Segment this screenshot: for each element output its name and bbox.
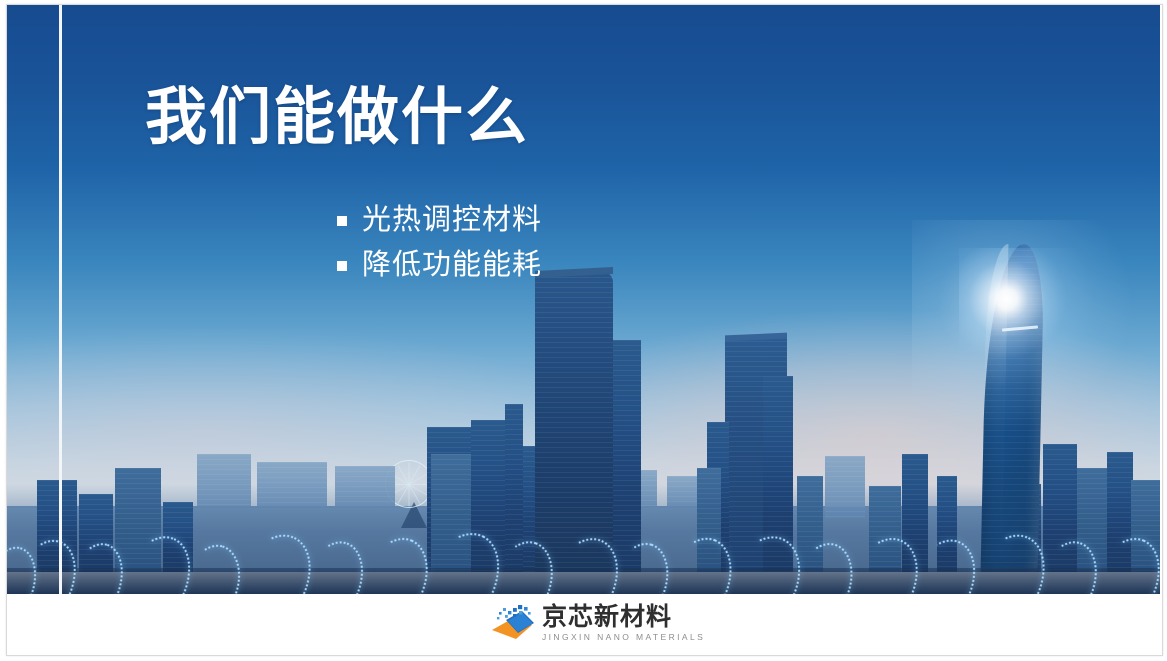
square-bullet-icon	[337, 261, 347, 271]
building	[197, 454, 251, 506]
list-item: 降低功能能耗	[337, 243, 542, 288]
building	[797, 476, 823, 572]
building	[335, 466, 395, 506]
central-tower	[535, 272, 613, 572]
building	[825, 456, 865, 518]
logo-name-cn: 京芯新材料	[542, 604, 705, 630]
logo-text-block: 京芯新材料 JINGXIN NANO MATERIALS	[542, 604, 705, 642]
square-bullet-icon	[337, 216, 347, 226]
building	[697, 468, 721, 572]
bullet-list: 光热调控材料 降低功能能耗	[337, 198, 542, 288]
sun-glow-halo	[912, 220, 1152, 450]
building	[613, 340, 641, 572]
building	[115, 468, 161, 572]
list-item: 光热调控材料	[337, 198, 542, 243]
building	[1043, 444, 1077, 572]
building	[937, 476, 957, 572]
bullet-label: 光热调控材料	[362, 198, 542, 243]
building	[505, 404, 523, 572]
slide-footer: 京芯新材料 JINGXIN NANO MATERIALS	[7, 594, 1160, 655]
slide-title: 我们能做什么	[145, 83, 529, 152]
building	[257, 462, 327, 506]
building	[763, 376, 793, 572]
left-divider-stripe	[59, 5, 62, 594]
jingxin-pixel-logo-mark-icon	[488, 603, 536, 643]
logo-name-en: JINGXIN NANO MATERIALS	[542, 632, 705, 642]
building	[1131, 480, 1160, 572]
building	[1107, 452, 1133, 572]
building	[1077, 468, 1107, 572]
building	[431, 454, 475, 572]
building	[902, 454, 928, 572]
company-logo: 京芯新材料 JINGXIN NANO MATERIALS	[488, 603, 705, 643]
slide-root: 我们能做什么 光热调控材料 降低功能能耗	[0, 0, 1167, 661]
building	[869, 486, 901, 572]
building	[37, 480, 77, 572]
slide-frame: 我们能做什么 光热调控材料 降低功能能耗	[6, 4, 1163, 656]
building	[79, 494, 113, 572]
foreground-shadow	[7, 568, 1160, 594]
hero-background-image: 我们能做什么 光热调控材料 降低功能能耗	[7, 5, 1160, 594]
bullet-label: 降低功能能耗	[362, 243, 542, 288]
building	[163, 502, 193, 572]
